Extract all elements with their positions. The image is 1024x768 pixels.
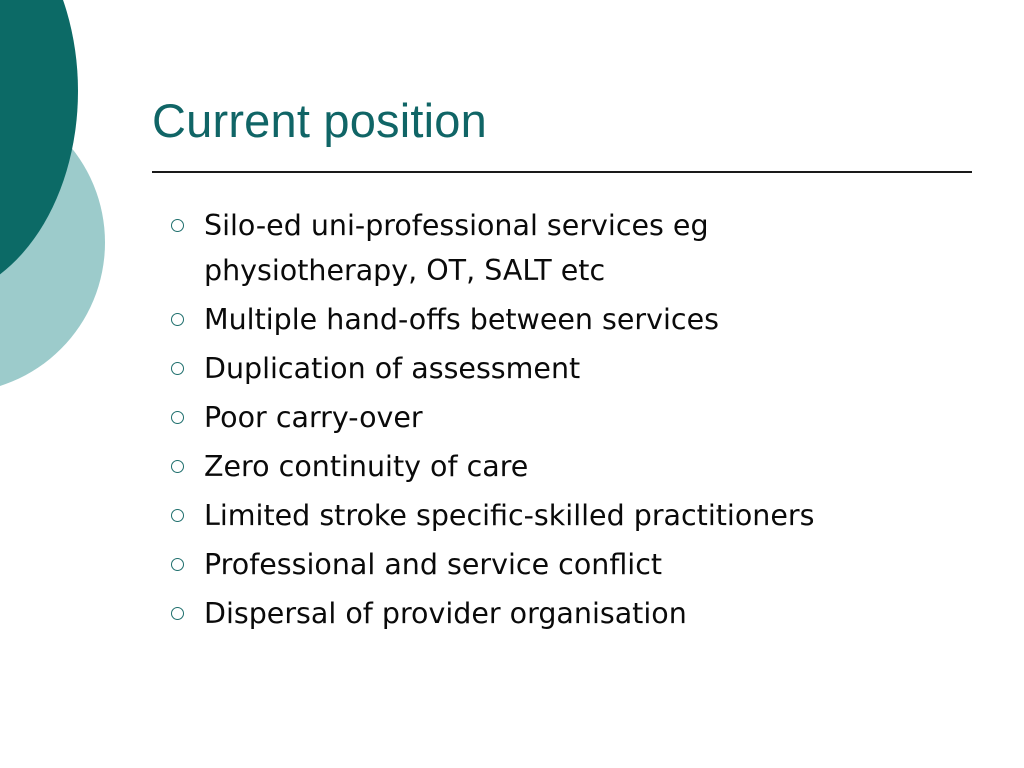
slide-canvas: Current position Silo-ed uni-professiona… [0, 0, 1024, 768]
hollow-circle-icon [171, 362, 184, 375]
list-item: Poor carry-over [152, 395, 952, 440]
list-item: Dispersal of provider organisation [152, 591, 952, 636]
list-item: Silo-ed uni-professional services eg phy… [152, 203, 952, 293]
hollow-circle-icon [171, 219, 184, 232]
list-item-label: Professional and service conflict [204, 542, 904, 587]
list-item-label: Dispersal of provider organisation [204, 591, 904, 636]
decorative-circle-light-icon [0, 92, 105, 393]
list-item-label: Silo-ed uni-professional services eg phy… [204, 203, 904, 293]
list-item-label: Multiple hand-offs between services [204, 297, 904, 342]
list-item: Zero continuity of care [152, 444, 952, 489]
page-title: Current position [152, 92, 972, 150]
list-item-label: Limited stroke specific-skilled practiti… [204, 493, 864, 538]
list-item: Duplication of assessment [152, 346, 952, 391]
bullet-list: Silo-ed uni-professional services eg phy… [152, 203, 952, 636]
hollow-circle-icon [171, 509, 184, 522]
hollow-circle-icon [171, 411, 184, 424]
list-item-label: Zero continuity of care [204, 444, 904, 489]
hollow-circle-icon [171, 460, 184, 473]
list-item: Limited stroke specific-skilled practiti… [152, 493, 952, 538]
title-divider [152, 171, 972, 173]
list-item-label: Duplication of assessment [204, 346, 904, 391]
hollow-circle-icon [171, 558, 184, 571]
hollow-circle-icon [171, 607, 184, 620]
list-item: Multiple hand-offs between services [152, 297, 952, 342]
hollow-circle-icon [171, 313, 184, 326]
list-item-label: Poor carry-over [204, 395, 904, 440]
list-item: Professional and service conflict [152, 542, 952, 587]
decorative-circle-dark-icon [0, 0, 78, 300]
title-block: Current position [152, 92, 972, 150]
body-content: Silo-ed uni-professional services eg phy… [152, 203, 952, 640]
